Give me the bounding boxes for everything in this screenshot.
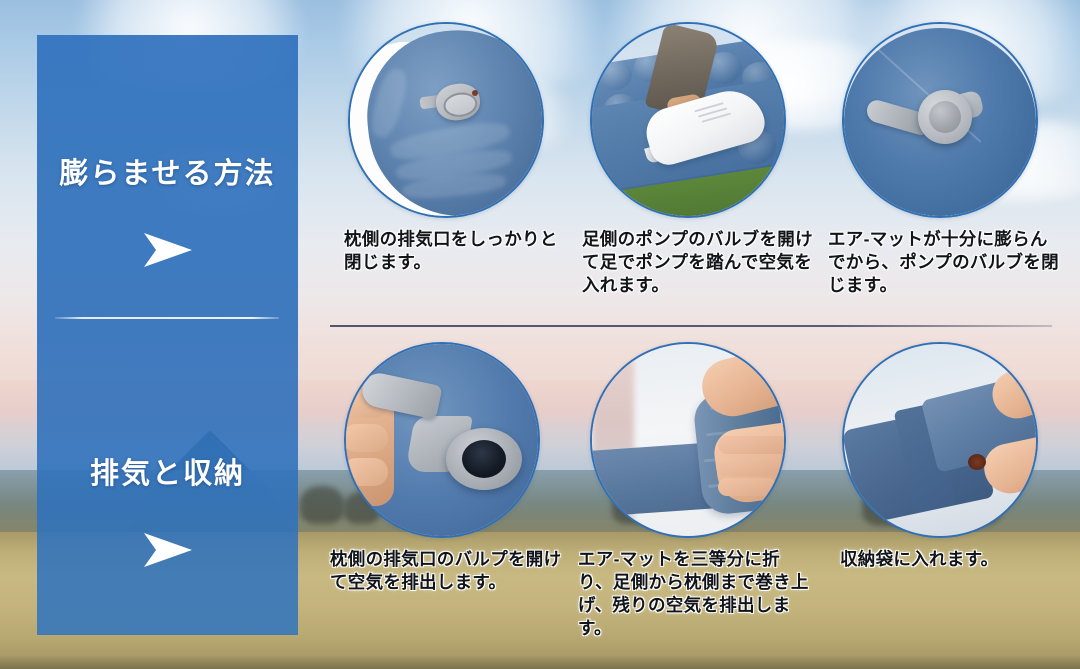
foot-pump-photo	[590, 22, 786, 218]
step-card: 枕側の排気口をしっかりと閉じます。	[330, 22, 566, 274]
section-nav-panel: 膨らませる方法 排気と収納	[37, 35, 298, 635]
arrow-right-icon	[140, 230, 196, 270]
section-title-inflate: 膨らませる方法	[37, 150, 298, 192]
step-caption: エア-マットが十分に膨らんでから、ポンプのバルブを閉じます。	[826, 228, 1062, 297]
panel-divider	[55, 317, 279, 319]
step-card: 足側のポンプのバルブを開けて足でポンプを踏んで空気を入れます。	[578, 22, 814, 297]
step-caption: エア-マットを三等分に折り、足側から枕側まで巻き上げ、残りの空気を排出します。	[578, 548, 814, 640]
step-caption: 枕側の排気口をしっかりと閉じます。	[330, 228, 566, 274]
step-card: 収納袋に入れます。	[826, 342, 1062, 571]
steps-container: 枕側の排気口をしっかりと閉じます。	[330, 22, 1060, 662]
pump-valve-closed-photo	[842, 22, 1038, 218]
inflate-steps-row: 枕側の排気口をしっかりと閉じます。	[330, 22, 1060, 325]
row-divider	[330, 325, 1052, 327]
pillow-valve-closed-photo	[348, 22, 544, 218]
step-caption: 足側のポンプのバルブを開けて足でポンプを踏んで空気を入れます。	[578, 228, 814, 297]
step-card: エア-マットが十分に膨らんでから、ポンプのバルブを閉じます。	[826, 22, 1062, 297]
step-caption: 枕側の排気口のバルプを開けて空気を排出します。	[330, 548, 566, 594]
step-caption: 収納袋に入れます。	[826, 548, 1062, 571]
section-title-deflate: 排気と収納	[37, 450, 298, 492]
rolling-mat-photo	[590, 342, 786, 538]
storage-bag-photo	[842, 342, 1038, 538]
pillow-valve-open-photo	[344, 342, 540, 538]
deflate-steps-row: 枕側の排気口のバルプを開けて空気を排出します。 エア-マットを三等分に折り、足側…	[330, 342, 1060, 662]
step-card: エア-マットを三等分に折り、足側から枕側まで巻き上げ、残りの空気を排出します。	[578, 342, 814, 640]
step-card: 枕側の排気口のバルプを開けて空気を排出します。	[330, 342, 566, 594]
arrow-right-icon	[140, 530, 196, 570]
